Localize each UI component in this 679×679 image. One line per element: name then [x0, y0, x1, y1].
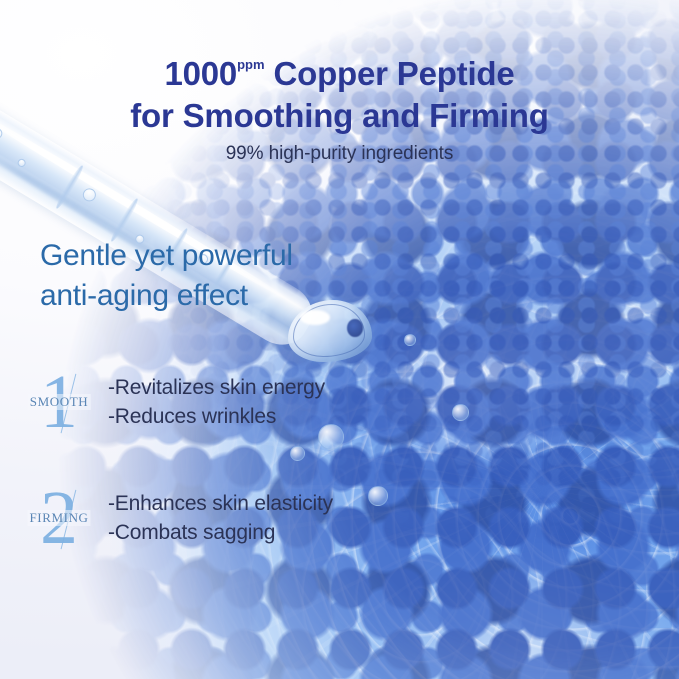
benefit-text-2: -Enhances skin elasticity -Combats saggi…: [108, 489, 333, 547]
headline-line-2: for Smoothing and Firming: [0, 95, 679, 137]
subtitle: 99% high-purity ingredients: [0, 143, 679, 165]
ppm-unit-superscript: ppm: [237, 57, 264, 72]
droplet-rim: [293, 304, 365, 357]
droplet-core: [347, 319, 363, 338]
benefit-item-1: 1 SMOOTH -Revitalizes skin energy -Reduc…: [20, 362, 325, 442]
benefit-badge-2: 2 FIRMING: [20, 478, 98, 558]
droplet-body: [288, 300, 372, 362]
droplet-highlight: [300, 310, 330, 325]
tagline-line-1: Gentle yet powerful: [40, 236, 293, 276]
product-marketing-image: 1000ppm Copper Peptide for Smoothing and…: [0, 0, 679, 679]
page-title: 1000ppm Copper Peptide for Smoothing and…: [0, 44, 679, 137]
benefit-item-2: 2 FIRMING -Enhances skin elasticity -Com…: [20, 478, 333, 558]
serum-droplet-icon: [288, 300, 372, 362]
tagline-line-2: anti-aging effect: [40, 276, 293, 316]
benefit-line: -Revitalizes skin energy: [108, 373, 325, 402]
pipette-bubble: [80, 186, 98, 204]
tagline: Gentle yet powerful anti-aging effect: [40, 236, 293, 316]
bubble: [368, 486, 388, 506]
benefit-line: -Combats sagging: [108, 518, 333, 547]
benefit-line: -Enhances skin elasticity: [108, 489, 333, 518]
benefit-tag-label: FIRMING: [27, 510, 90, 526]
benefit-text-1: -Revitalizes skin energy -Reduces wrinkl…: [108, 373, 325, 431]
bubble: [404, 334, 416, 346]
ppm-value: 1000: [164, 55, 237, 92]
headline-line-1: 1000ppm Copper Peptide: [0, 44, 679, 95]
benefit-line: -Reduces wrinkles: [108, 402, 325, 431]
benefit-tag-label: SMOOTH: [28, 394, 91, 410]
benefit-badge-1: 1 SMOOTH: [20, 362, 98, 442]
bubble: [290, 446, 305, 461]
headline-line-1-rest: Copper Peptide: [265, 55, 515, 92]
pipette-ring: [54, 164, 86, 211]
bubble: [452, 404, 469, 421]
